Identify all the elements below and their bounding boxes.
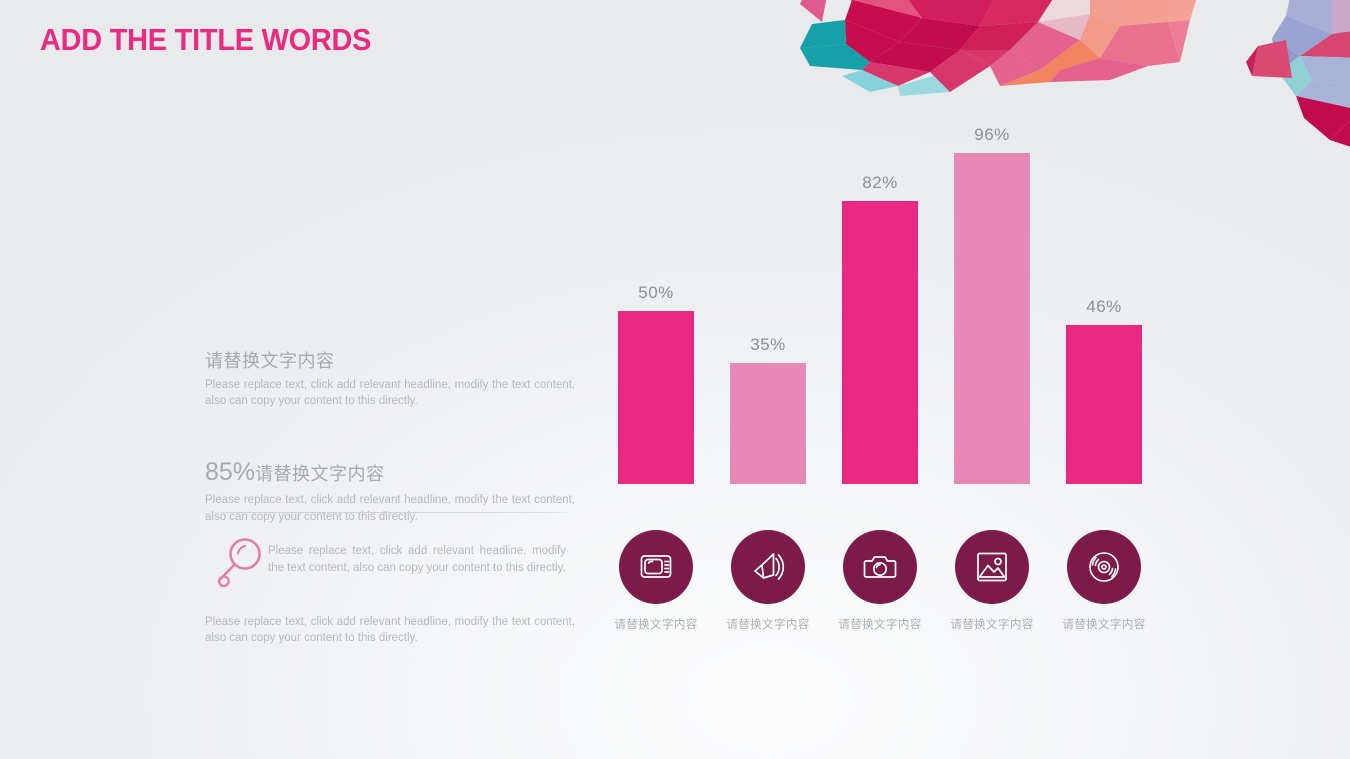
poly-triangle [1272,16,1332,56]
slide-canvas: ADD THE TITLE WORDS 请替换文字内容 Please repla… [0,0,1350,759]
block-2-body: Please replace text, click add relevant … [205,492,575,525]
magnifier-body-text: Please replace text, click add relevant … [268,543,566,576]
text-block-1: 请替换文字内容 Please replace text, click add r… [205,350,580,409]
bar-column[interactable]: 96%请替换文字内容 [936,0,1048,640]
bar-value-label: 96% [936,125,1048,145]
poly-triangle [1168,0,1200,22]
bar-chart: 50%请替换文字内容35%请替换文字内容82%请替换文字内容96%请替换文字内容… [600,0,1160,759]
bar[interactable] [1066,325,1142,484]
bar-category-label: 请替换文字内容 [824,616,936,632]
block-2-heading: 85%请替换文字内容 [205,457,580,488]
bar[interactable] [618,311,694,484]
block-2-percent: 85% [205,458,255,486]
bar-column[interactable]: 50%请替换文字内容 [600,0,712,640]
text-block-2: 85%请替换文字内容 Please replace text, click ad… [205,457,580,525]
camera-icon[interactable] [843,530,917,604]
speaker-icon[interactable] [731,530,805,604]
bar-column[interactable]: 35%请替换文字内容 [712,0,824,640]
bar-category-label: 请替换文字内容 [600,616,712,632]
bar-column[interactable]: 46%请替换文字内容 [1048,0,1160,640]
bar-category-label: 请替换文字内容 [712,616,824,632]
poly-triangle [1286,0,1350,34]
poly-triangle [1296,80,1350,110]
bar-category-label: 请替换文字内容 [1048,616,1160,632]
bar-column[interactable]: 82%请替换文字内容 [824,0,936,640]
poly-triangle [1332,0,1350,34]
poly-triangle [1272,38,1300,72]
picture-icon[interactable] [955,530,1029,604]
bar[interactable] [842,201,918,484]
poly-triangle [1252,40,1292,78]
poly-triangle [1246,46,1258,76]
poly-triangle [1330,110,1350,150]
bar-category-label: 请替换文字内容 [936,616,1048,632]
tv-icon[interactable] [619,530,693,604]
disc-icon[interactable] [1067,530,1141,604]
bar[interactable] [954,153,1030,484]
bar-value-label: 82% [824,173,936,193]
section-divider [205,512,575,513]
bar-value-label: 46% [1048,297,1160,317]
block-1-heading: 请替换文字内容 [205,350,580,373]
block-1-body: Please replace text, click add relevant … [205,377,575,410]
block-2-heading-label: 请替换文字内容 [255,464,385,484]
bar-value-label: 50% [600,283,712,303]
magnifier-row: Please replace text, click add relevant … [212,532,582,592]
poly-triangle [1300,56,1350,86]
magnifier-icon [212,532,268,592]
bottom-body-text: Please replace text, click add relevant … [205,614,575,647]
poly-triangle [1300,30,1350,58]
bar-value-label: 35% [712,335,824,355]
poly-triangle [1278,56,1312,96]
page-title: ADD THE TITLE WORDS [40,22,371,58]
poly-triangle [1168,20,1190,62]
poly-triangle [1296,96,1350,140]
bar[interactable] [730,363,806,484]
left-text-column: 请替换文字内容 Please replace text, click add r… [205,350,580,525]
